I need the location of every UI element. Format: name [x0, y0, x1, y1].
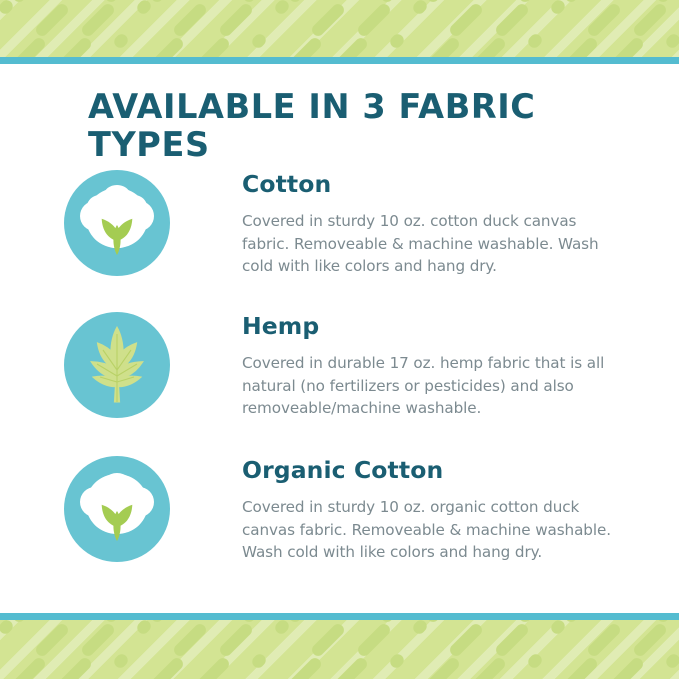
dash-shape — [664, 32, 679, 50]
dash-shape — [273, 0, 291, 16]
dash-shape — [425, 620, 462, 624]
dash-shape — [448, 2, 485, 39]
dash-shape — [526, 32, 544, 50]
dash-shape — [356, 2, 393, 39]
dash-shape — [11, 656, 48, 679]
dash-shape — [494, 2, 531, 39]
dash-shape — [549, 620, 567, 636]
dash-shape — [250, 32, 268, 50]
dash-shape — [563, 656, 600, 679]
dash-shape — [80, 622, 117, 659]
dash-shape — [57, 656, 94, 679]
dash-shape — [609, 36, 646, 57]
fabric-types-infographic: AVAILABLE IN 3 FABRIC TYPES — [0, 0, 679, 679]
dash-shape — [172, 2, 209, 39]
dash-shape — [287, 620, 324, 624]
dash-shape — [356, 622, 393, 659]
dash-shape — [0, 620, 15, 636]
feature-text-block: Organic Cotton Covered in sturdy 10 oz. … — [172, 454, 622, 564]
dash-shape — [411, 620, 429, 636]
dash-shape — [471, 656, 508, 679]
dash-shape — [526, 652, 544, 670]
feature-title: Cotton — [242, 172, 622, 197]
feature-description: Covered in durable 17 oz. hemp fabric th… — [242, 352, 622, 420]
dash-shape — [172, 622, 209, 659]
rounded-dash-pattern-bottom — [0, 620, 679, 679]
dash-shape — [11, 36, 48, 57]
dash-shape — [563, 0, 600, 4]
dash-shape — [11, 620, 48, 624]
dash-shape — [218, 2, 255, 39]
dash-shape — [218, 622, 255, 659]
feature-title: Organic Cotton — [242, 458, 622, 483]
bottom-teal-rule — [0, 613, 679, 620]
cotton-boll-icon — [62, 168, 172, 278]
dash-shape — [425, 656, 462, 679]
dash-shape — [586, 622, 623, 659]
dash-shape — [34, 2, 71, 39]
dash-shape — [632, 2, 669, 39]
dash-shape — [563, 36, 600, 57]
dash-shape — [287, 656, 324, 679]
dash-shape — [0, 0, 15, 16]
dash-shape — [195, 36, 232, 57]
dash-shape — [287, 36, 324, 57]
dash-shape — [135, 0, 153, 16]
feature-text-block: Cotton Covered in sturdy 10 oz. cotton d… — [172, 168, 622, 278]
dash-shape — [388, 652, 406, 670]
dash-shape — [273, 620, 291, 636]
dash-shape — [549, 0, 567, 16]
dash-shape — [34, 622, 71, 659]
feature-title: Hemp — [242, 314, 622, 339]
feature-description: Covered in sturdy 10 oz. organic cotton … — [242, 496, 622, 564]
dash-shape — [195, 656, 232, 679]
dash-shape — [149, 656, 186, 679]
bottom-decorative-band — [0, 620, 679, 679]
dash-shape — [135, 620, 153, 636]
dash-shape — [310, 2, 347, 39]
dash-shape — [112, 32, 130, 50]
dash-shape — [250, 652, 268, 670]
dash-shape — [80, 2, 117, 39]
dash-shape — [632, 622, 669, 659]
dash-shape — [609, 656, 646, 679]
dash-shape — [11, 0, 48, 4]
dash-shape — [494, 622, 531, 659]
dash-shape — [287, 0, 324, 4]
list-item: Hemp Covered in durable 17 oz. hemp fabr… — [62, 310, 622, 420]
top-teal-rule — [0, 57, 679, 64]
dash-shape — [112, 652, 130, 670]
hemp-leaf-icon — [62, 310, 172, 420]
page-title: AVAILABLE IN 3 FABRIC TYPES — [88, 88, 628, 164]
feature-text-block: Hemp Covered in durable 17 oz. hemp fabr… — [172, 310, 622, 420]
list-item: Cotton Covered in sturdy 10 oz. cotton d… — [62, 168, 622, 278]
dash-shape — [411, 0, 429, 16]
dash-shape — [149, 620, 186, 624]
cotton-boll-icon — [62, 454, 172, 564]
dash-shape — [448, 622, 485, 659]
dash-shape — [563, 620, 600, 624]
dash-shape — [333, 36, 370, 57]
list-item: Organic Cotton Covered in sturdy 10 oz. … — [62, 454, 622, 564]
top-decorative-band — [0, 0, 679, 57]
dash-shape — [425, 36, 462, 57]
dash-shape — [333, 656, 370, 679]
dash-shape — [149, 0, 186, 4]
dash-shape — [149, 36, 186, 57]
dash-shape — [57, 36, 94, 57]
dash-shape — [586, 2, 623, 39]
dash-shape — [310, 622, 347, 659]
dash-shape — [664, 652, 679, 670]
dash-shape — [471, 36, 508, 57]
dash-shape — [425, 0, 462, 4]
feature-description: Covered in sturdy 10 oz. cotton duck can… — [242, 210, 622, 278]
rounded-dash-pattern-top — [0, 0, 679, 57]
dash-shape — [388, 32, 406, 50]
